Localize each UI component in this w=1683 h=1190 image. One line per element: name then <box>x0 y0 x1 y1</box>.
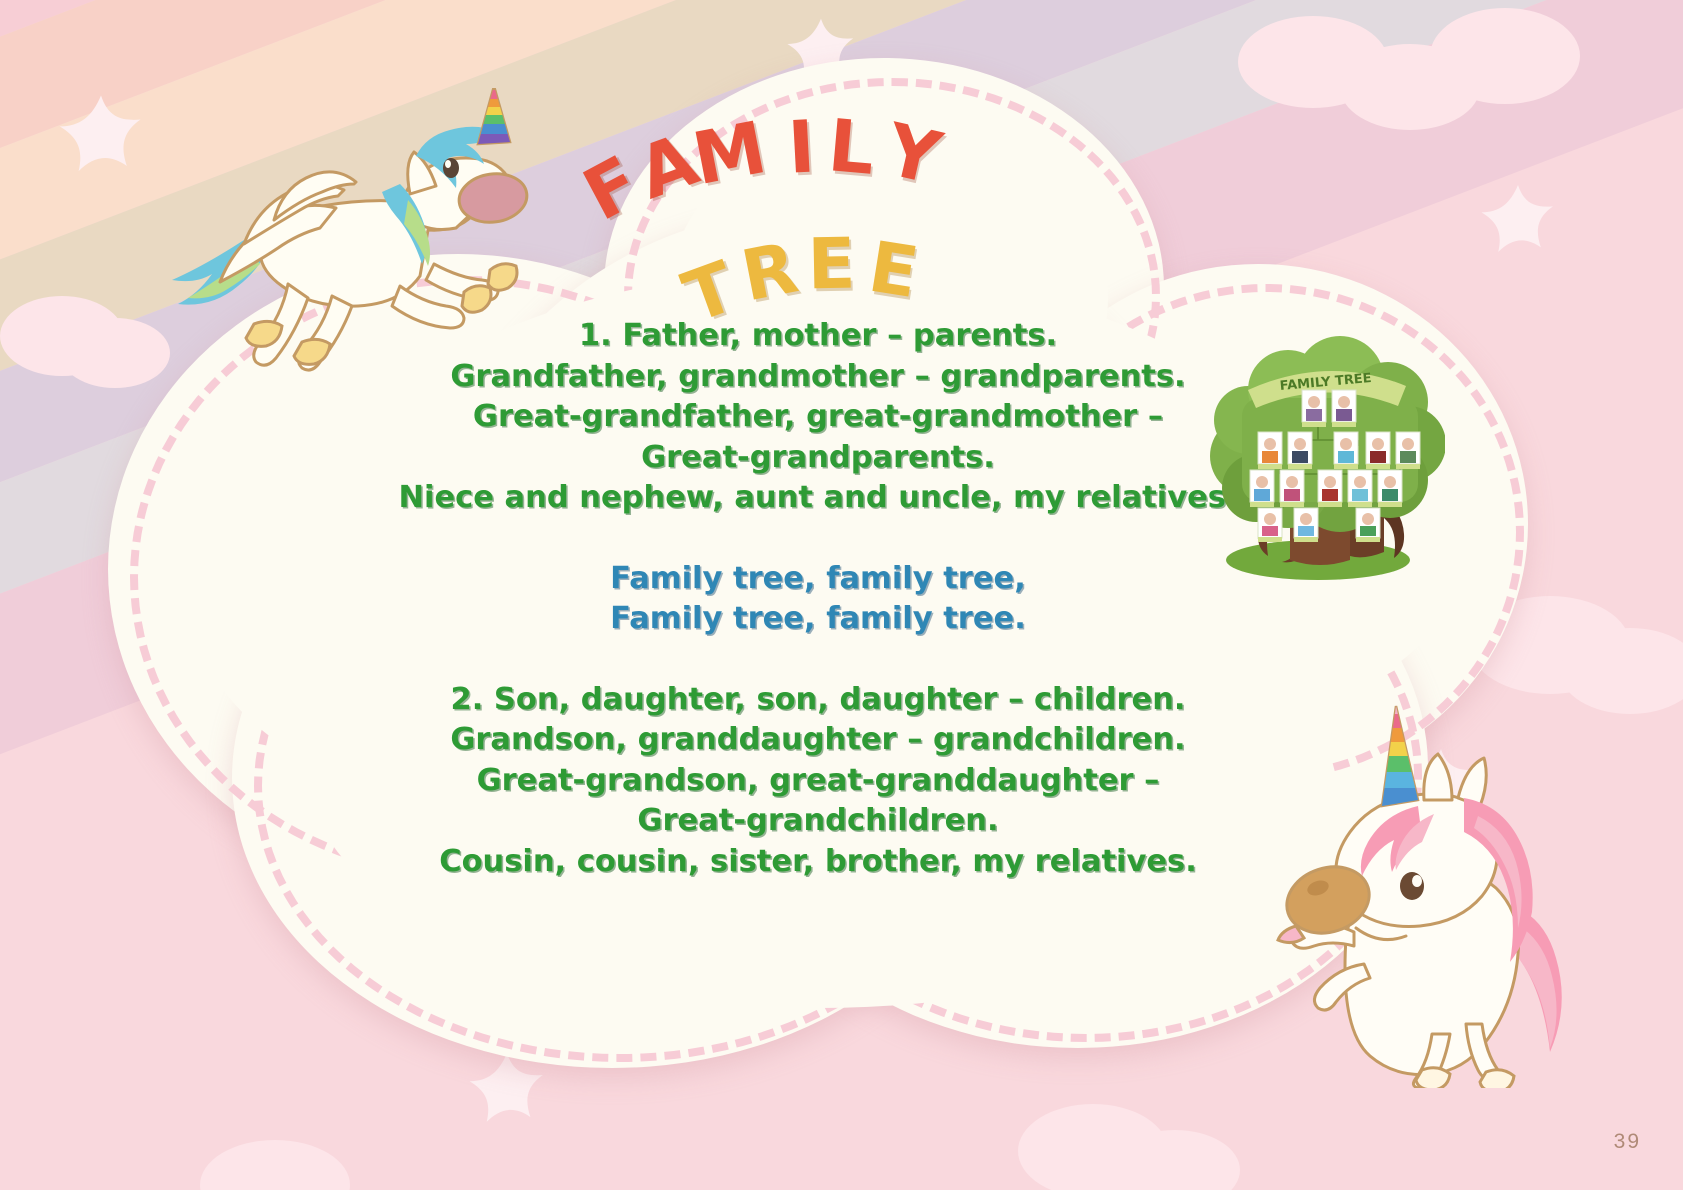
tree-portrait <box>1348 470 1372 507</box>
lyric-line: Great-grandchildren. <box>288 801 1348 842</box>
tree-portrait <box>1332 390 1356 427</box>
title-letter: E <box>863 226 924 315</box>
chorus-line: Family tree, family tree. <box>288 599 1348 640</box>
title-letter: L <box>825 103 879 191</box>
lyric-line: Grandson, granddaughter – grandchildren. <box>288 720 1348 761</box>
chorus-line: Family tree, family tree, <box>288 559 1348 600</box>
flying-unicorn-icon <box>148 88 548 378</box>
page-number: 39 <box>1614 1130 1641 1154</box>
lyric-line: Great-grandfather, great-grandmother – <box>288 397 1348 438</box>
lyric-line: 2. Son, daughter, son, daughter – childr… <box>288 680 1348 721</box>
tree-portrait <box>1258 432 1282 469</box>
tree-portrait <box>1396 432 1420 469</box>
lyric-line: Niece and nephew, aunt and uncle, my rel… <box>288 478 1348 519</box>
rainbow-horn-icon <box>472 88 520 145</box>
title-letter: E <box>807 223 857 306</box>
rainbow-horn-icon <box>1376 702 1428 808</box>
tree-portrait <box>1334 432 1358 469</box>
tree-portrait <box>1258 508 1282 542</box>
tree-portrait <box>1318 470 1342 507</box>
tree-portrait <box>1288 432 1312 469</box>
title-letter: R <box>735 227 805 318</box>
rearing-unicorn-icon <box>1196 688 1596 1088</box>
lyrics-block: 1. Father, mother – parents. Grandfather… <box>288 316 1348 882</box>
tree-portrait <box>1378 470 1402 507</box>
tree-portrait <box>1250 470 1274 507</box>
lyric-line: Great-grandparents. <box>288 438 1348 479</box>
tree-portrait <box>1302 390 1326 427</box>
lyric-line: Cousin, cousin, sister, brother, my rela… <box>288 842 1348 883</box>
poster-page: F A M I L Y T R E E 1. Father, mother – … <box>0 0 1683 1190</box>
lyric-line: Great-grandson, great-granddaughter – <box>288 761 1348 802</box>
tree-portrait <box>1366 432 1390 469</box>
title-letter: I <box>786 104 818 189</box>
tree-portrait <box>1356 508 1380 542</box>
lyric-spacer <box>288 519 1348 559</box>
title-letter: M <box>686 105 773 201</box>
family-tree-icon: FAMILY TREE <box>1190 328 1445 583</box>
title-letter: Y <box>879 107 950 201</box>
tree-portrait <box>1280 470 1304 507</box>
tree-portrait <box>1294 508 1318 542</box>
lyric-spacer <box>288 640 1348 680</box>
